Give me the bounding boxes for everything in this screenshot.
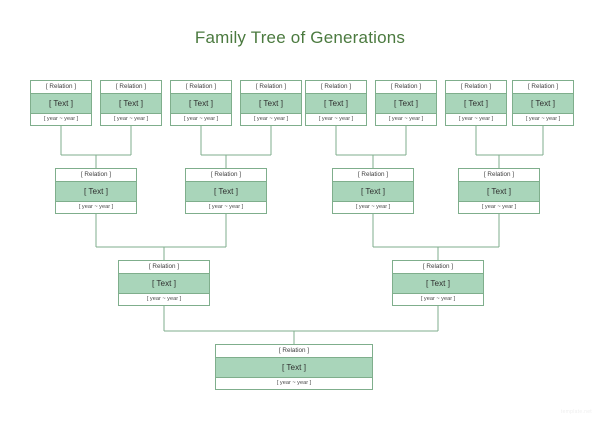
node-name-label: [ Text ]: [31, 94, 91, 114]
tree-node[interactable]: [ Relation ][ Text ][ year ~ year ]: [445, 80, 507, 126]
node-years-label: [ year ~ year ]: [101, 114, 161, 125]
node-name-label: [ Text ]: [333, 182, 413, 202]
node-name-label: [ Text ]: [241, 94, 301, 114]
tree-node[interactable]: [ Relation ][ Text ][ year ~ year ]: [458, 168, 540, 214]
node-relation-label: [ Relation ]: [56, 169, 136, 182]
node-name-label: [ Text ]: [459, 182, 539, 202]
tree-node[interactable]: [ Relation ][ Text ][ year ~ year ]: [512, 80, 574, 126]
tree-node[interactable]: [ Relation ][ Text ][ year ~ year ]: [100, 80, 162, 126]
node-relation-label: [ Relation ]: [186, 169, 266, 182]
node-years-label: [ year ~ year ]: [31, 114, 91, 125]
node-relation-label: [ Relation ]: [333, 169, 413, 182]
node-years-label: [ year ~ year ]: [306, 114, 366, 125]
node-name-label: [ Text ]: [119, 274, 209, 294]
node-name-label: [ Text ]: [393, 274, 483, 294]
tree-node[interactable]: [ Relation ][ Text ][ year ~ year ]: [185, 168, 267, 214]
node-name-label: [ Text ]: [306, 94, 366, 114]
node-years-label: [ year ~ year ]: [376, 114, 436, 125]
tree-node[interactable]: [ Relation ][ Text ][ year ~ year ]: [392, 260, 484, 306]
family-tree-canvas: [ Relation ][ Text ][ year ~ year ][ Rel…: [0, 0, 600, 424]
node-relation-label: [ Relation ]: [119, 261, 209, 274]
node-years-label: [ year ~ year ]: [459, 202, 539, 213]
node-name-label: [ Text ]: [513, 94, 573, 114]
node-years-label: [ year ~ year ]: [186, 202, 266, 213]
node-relation-label: [ Relation ]: [31, 81, 91, 94]
node-relation-label: [ Relation ]: [446, 81, 506, 94]
node-relation-label: [ Relation ]: [393, 261, 483, 274]
node-relation-label: [ Relation ]: [241, 81, 301, 94]
node-years-label: [ year ~ year ]: [446, 114, 506, 125]
tree-node[interactable]: [ Relation ][ Text ][ year ~ year ]: [30, 80, 92, 126]
node-years-label: [ year ~ year ]: [241, 114, 301, 125]
node-name-label: [ Text ]: [446, 94, 506, 114]
tree-node[interactable]: [ Relation ][ Text ][ year ~ year ]: [375, 80, 437, 126]
node-years-label: [ year ~ year ]: [119, 294, 209, 305]
tree-node[interactable]: [ Relation ][ Text ][ year ~ year ]: [215, 344, 373, 390]
node-name-label: [ Text ]: [56, 182, 136, 202]
node-name-label: [ Text ]: [101, 94, 161, 114]
tree-node[interactable]: [ Relation ][ Text ][ year ~ year ]: [240, 80, 302, 126]
tree-node[interactable]: [ Relation ][ Text ][ year ~ year ]: [332, 168, 414, 214]
node-years-label: [ year ~ year ]: [171, 114, 231, 125]
node-relation-label: [ Relation ]: [513, 81, 573, 94]
node-years-label: [ year ~ year ]: [513, 114, 573, 125]
node-relation-label: [ Relation ]: [216, 345, 372, 358]
tree-node[interactable]: [ Relation ][ Text ][ year ~ year ]: [118, 260, 210, 306]
node-name-label: [ Text ]: [186, 182, 266, 202]
node-years-label: [ year ~ year ]: [393, 294, 483, 305]
node-relation-label: [ Relation ]: [376, 81, 436, 94]
node-years-label: [ year ~ year ]: [56, 202, 136, 213]
node-years-label: [ year ~ year ]: [216, 378, 372, 389]
node-relation-label: [ Relation ]: [101, 81, 161, 94]
node-name-label: [ Text ]: [216, 358, 372, 378]
node-name-label: [ Text ]: [376, 94, 436, 114]
tree-node[interactable]: [ Relation ][ Text ][ year ~ year ]: [170, 80, 232, 126]
node-years-label: [ year ~ year ]: [333, 202, 413, 213]
node-relation-label: [ Relation ]: [171, 81, 231, 94]
watermark: template.net: [561, 409, 592, 415]
tree-node[interactable]: [ Relation ][ Text ][ year ~ year ]: [305, 80, 367, 126]
tree-node[interactable]: [ Relation ][ Text ][ year ~ year ]: [55, 168, 137, 214]
node-relation-label: [ Relation ]: [459, 169, 539, 182]
node-relation-label: [ Relation ]: [306, 81, 366, 94]
node-name-label: [ Text ]: [171, 94, 231, 114]
